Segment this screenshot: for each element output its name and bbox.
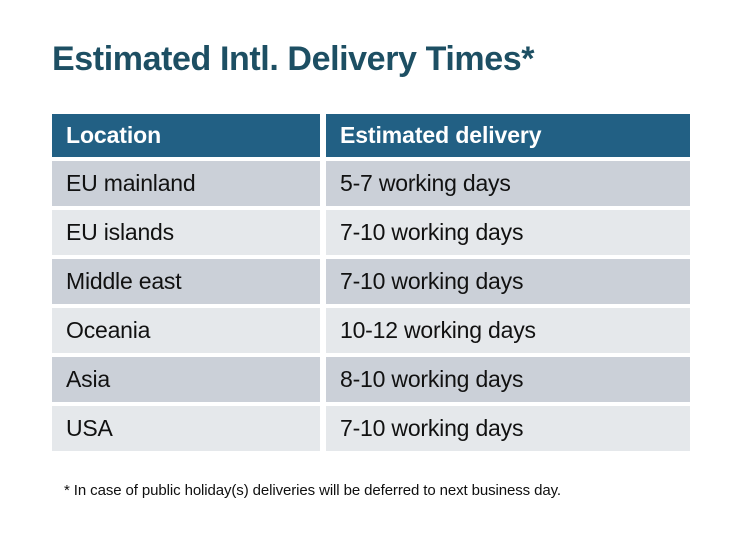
- table-row: EU mainland 5-7 working days: [52, 161, 690, 206]
- table-row: Asia 8-10 working days: [52, 357, 690, 402]
- cell-location: Middle east: [52, 259, 320, 304]
- cell-location: EU mainland: [52, 161, 320, 206]
- table-row: EU islands 7-10 working days: [52, 210, 690, 255]
- delivery-times-table: Location Estimated delivery EU mainland …: [52, 114, 690, 451]
- table-row: Oceania 10-12 working days: [52, 308, 690, 353]
- cell-estimated-delivery: 7-10 working days: [326, 259, 690, 304]
- cell-location: USA: [52, 406, 320, 451]
- cell-location: Oceania: [52, 308, 320, 353]
- page-title: Estimated Intl. Delivery Times*: [52, 38, 534, 80]
- table-row: USA 7-10 working days: [52, 406, 690, 451]
- cell-estimated-delivery: 7-10 working days: [326, 406, 690, 451]
- cell-estimated-delivery: 10-12 working days: [326, 308, 690, 353]
- delivery-times-page: Estimated Intl. Delivery Times* Location…: [0, 0, 745, 536]
- table-header-row: Location Estimated delivery: [52, 114, 690, 157]
- column-header-location: Location: [52, 114, 320, 157]
- cell-location: Asia: [52, 357, 320, 402]
- column-header-estimated-delivery: Estimated delivery: [326, 114, 690, 157]
- footnote-text: * In case of public holiday(s) deliverie…: [64, 481, 561, 501]
- cell-estimated-delivery: 8-10 working days: [326, 357, 690, 402]
- table-row: Middle east 7-10 working days: [52, 259, 690, 304]
- cell-estimated-delivery: 7-10 working days: [326, 210, 690, 255]
- cell-estimated-delivery: 5-7 working days: [326, 161, 690, 206]
- cell-location: EU islands: [52, 210, 320, 255]
